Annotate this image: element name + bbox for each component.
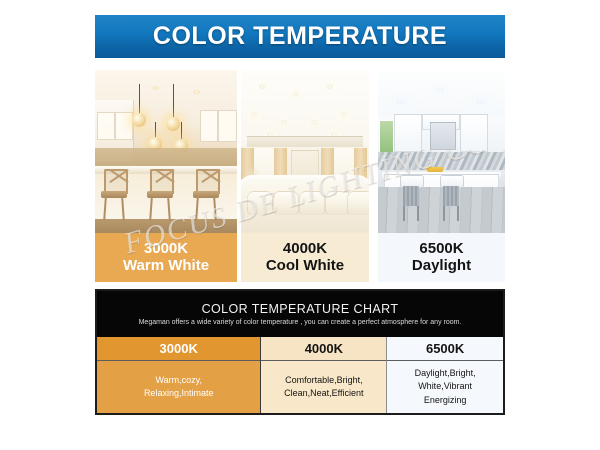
photo-neutral-living-room — [241, 70, 369, 233]
header-banner: COLOR TEMPERATURE — [95, 15, 505, 58]
photo-daylight-kitchen — [378, 70, 505, 233]
chart-kelvin-6500k: 6500K — [387, 337, 503, 361]
chart-desc-6500k-line3: Energizing — [415, 394, 476, 407]
chart-desc-3000k-line1: Warm,cozy, — [144, 374, 214, 387]
chart-kelvin-row: 3000K 4000K 6500K — [97, 337, 503, 361]
chart-desc-4000k-line1: Comfortable,Bright, — [284, 374, 363, 387]
chart-kelvin-3000k: 3000K — [97, 337, 261, 361]
product-infographic: COLOR TEMPERATURE — [0, 0, 600, 450]
chart-subtitle: Megaman offers a wide variety of color t… — [139, 318, 462, 328]
kelvin-label-4000k: 4000K — [283, 241, 327, 258]
chart-description-3000k: Warm,cozy, Relaxing,Intimate — [97, 361, 261, 413]
chart-desc-6500k-line2: White,Vibrant — [415, 380, 476, 393]
caption-4000k: 4000K Cool White — [241, 233, 369, 282]
chart-title: COLOR TEMPERATURE CHART — [202, 302, 399, 316]
caption-3000k: 3000K Warm White — [95, 233, 237, 282]
chart-description-row: Warm,cozy, Relaxing,Intimate Comfortable… — [97, 361, 503, 413]
color-name-4000k: Cool White — [266, 258, 344, 275]
color-temperature-panels: 3000K Warm White — [95, 70, 505, 282]
panel-3000k: 3000K Warm White — [95, 70, 237, 282]
kelvin-label-6500k: 6500K — [419, 241, 463, 258]
kelvin-label-3000k: 3000K — [144, 241, 188, 258]
chart-desc-4000k-line2: Clean,Neat,Efficient — [284, 387, 363, 400]
page-title: COLOR TEMPERATURE — [153, 22, 447, 51]
color-temperature-chart: COLOR TEMPERATURE CHART Megaman offers a… — [95, 289, 505, 415]
chart-header: COLOR TEMPERATURE CHART Megaman offers a… — [97, 291, 503, 337]
chart-desc-3000k-line2: Relaxing,Intimate — [144, 387, 214, 400]
photo-warm-kitchen — [95, 70, 237, 233]
color-name-6500k: Daylight — [412, 258, 471, 275]
chart-description-6500k: Daylight,Bright, White,Vibrant Energizin… — [387, 361, 503, 413]
panel-4000k: 4000K Cool White — [241, 70, 369, 282]
chart-desc-6500k-line1: Daylight,Bright, — [415, 367, 476, 380]
caption-6500k: 6500K Daylight — [378, 233, 505, 282]
panel-6500k: 6500K Daylight — [378, 70, 505, 282]
color-name-3000k: Warm White — [123, 258, 209, 275]
chart-description-4000k: Comfortable,Bright, Clean,Neat,Efficient — [261, 361, 387, 413]
chart-kelvin-4000k: 4000K — [261, 337, 387, 361]
